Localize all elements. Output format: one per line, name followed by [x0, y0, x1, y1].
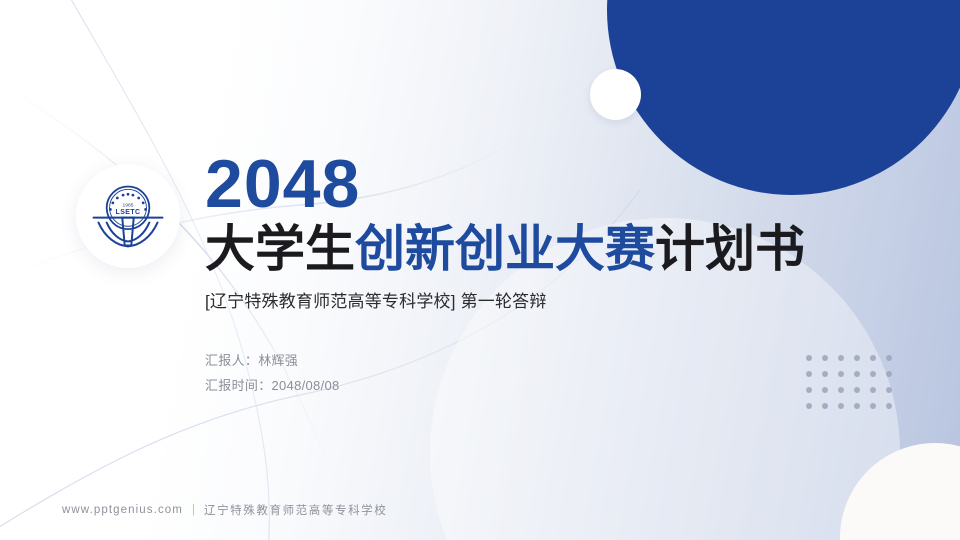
presenter-info: 汇报人：林辉强 汇报时间：2048/08/08: [205, 352, 845, 395]
school-logo: 1985 LSETC: [76, 164, 180, 268]
footer-school-name: 辽宁特殊教育师范高等专科学校: [204, 502, 387, 518]
emblem-acronym: LSETC: [116, 209, 141, 216]
title-part-3: 计划书: [655, 221, 805, 277]
subtitle: [辽宁特殊教育师范高等专科学校] 第一轮答辩: [205, 290, 845, 314]
presentation-slide: 1985 LSETC 2048 大学生创新创业大赛计划书 [辽宁特殊教育师范高等…: [0, 0, 960, 540]
footer: www.pptgenius.com | 辽宁特殊教育师范高等专科学校: [62, 502, 387, 518]
lsetc-emblem-icon: 1985 LSETC: [87, 175, 169, 257]
white-accent-circle: [590, 69, 641, 120]
bottom-white-circle: [840, 443, 960, 540]
footer-separator: |: [192, 504, 195, 516]
title-part-2: 创新创业大赛: [355, 221, 655, 277]
year-heading: 2048: [205, 150, 845, 218]
footer-website[interactable]: www.pptgenius.com: [62, 504, 183, 516]
presenter-line: 汇报人：林辉强: [205, 352, 845, 370]
title-block: 2048 大学生创新创业大赛计划书 [辽宁特殊教育师范高等专科学校] 第一轮答辩…: [205, 150, 845, 402]
main-title: 大学生创新创业大赛计划书: [205, 220, 845, 278]
emblem-year: 1985: [123, 203, 134, 209]
date-line: 汇报时间：2048/08/08: [205, 377, 845, 395]
title-part-1: 大学生: [205, 221, 355, 277]
